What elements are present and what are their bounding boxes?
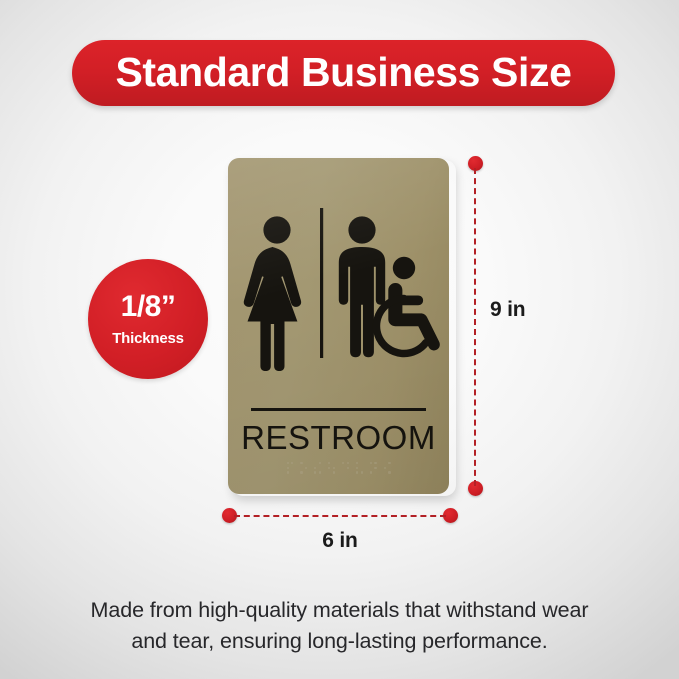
caption-block: Made from high-quality materials that wi…	[40, 595, 639, 657]
pictograms-svg	[228, 206, 449, 376]
headline-text: Standard Business Size	[115, 52, 571, 93]
thickness-value: 1/8”	[121, 292, 176, 322]
width-guide-line	[234, 515, 446, 517]
sign-label-text: RESTROOM	[228, 419, 449, 457]
caption-line-1: Made from high-quality materials that wi…	[40, 595, 639, 626]
width-label: 6 in	[322, 529, 357, 553]
wheelchair-accessible-figure	[377, 257, 440, 354]
caption-line-2: and tear, ensuring long-lasting performa…	[40, 626, 639, 657]
height-label: 9 in	[490, 298, 525, 322]
pictogram-group	[228, 206, 449, 376]
restroom-sign: RESTROOM	[228, 158, 456, 496]
height-guide-line	[474, 168, 476, 486]
braille-row	[228, 462, 449, 474]
product-infographic: Standard Business Size 1/8” Thickness	[0, 0, 679, 679]
thickness-badge: 1/8” Thickness	[88, 259, 208, 379]
woman-figure	[244, 216, 301, 371]
thickness-label: Thickness	[112, 331, 184, 346]
sign-rule-line	[251, 408, 426, 411]
sign-face: RESTROOM	[228, 158, 449, 494]
width-label-wrap: 6 in	[234, 529, 446, 553]
headline-banner: Standard Business Size	[72, 40, 615, 106]
divider-bar	[320, 208, 323, 358]
